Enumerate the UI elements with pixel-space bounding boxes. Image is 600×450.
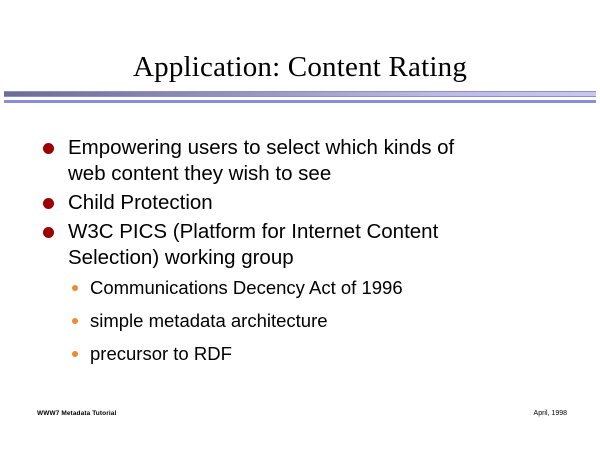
sub-list-item: Communications Decency Act of 1996	[68, 276, 570, 300]
list-item: W3C PICS (Platform for Internet Content …	[40, 219, 570, 271]
sub-bullet-dot-icon	[72, 285, 78, 291]
list-item: Child Protection	[40, 190, 570, 216]
bullet-list: Empowering users to select which kinds o…	[40, 135, 570, 375]
page-title: Application: Content Rating	[0, 50, 600, 84]
sub-bullet-list: Communications Decency Act of 1996 simpl…	[68, 276, 570, 366]
list-item-label: W3C PICS (Platform for Internet Content …	[68, 219, 570, 271]
bullet-dot-icon	[43, 227, 54, 238]
slide: Application: Content Rating Empowering u…	[0, 0, 600, 450]
footer-right-date: April, 1998	[534, 409, 567, 418]
list-item-label: Child Protection	[68, 190, 570, 216]
sub-list-item-label: Communications Decency Act of 1996	[90, 277, 403, 298]
sub-list-item: precursor to RDF	[68, 342, 570, 366]
title-divider-accent	[4, 100, 596, 103]
sub-bullet-dot-icon	[72, 351, 78, 357]
list-item-label: Empowering users to select which kinds o…	[68, 135, 570, 187]
sub-list-item: simple metadata architecture	[68, 309, 570, 333]
bullet-dot-icon	[43, 143, 54, 154]
sub-bullet-dot-icon	[72, 318, 78, 324]
list-item: Empowering users to select which kinds o…	[40, 135, 570, 187]
title-divider-bar	[4, 91, 596, 97]
sub-list-item-label: simple metadata architecture	[90, 310, 328, 331]
sub-list-item-label: precursor to RDF	[90, 343, 232, 364]
footer-left-text: WWW7 Metadata Tutorial	[37, 409, 116, 418]
bullet-dot-icon	[43, 198, 54, 209]
